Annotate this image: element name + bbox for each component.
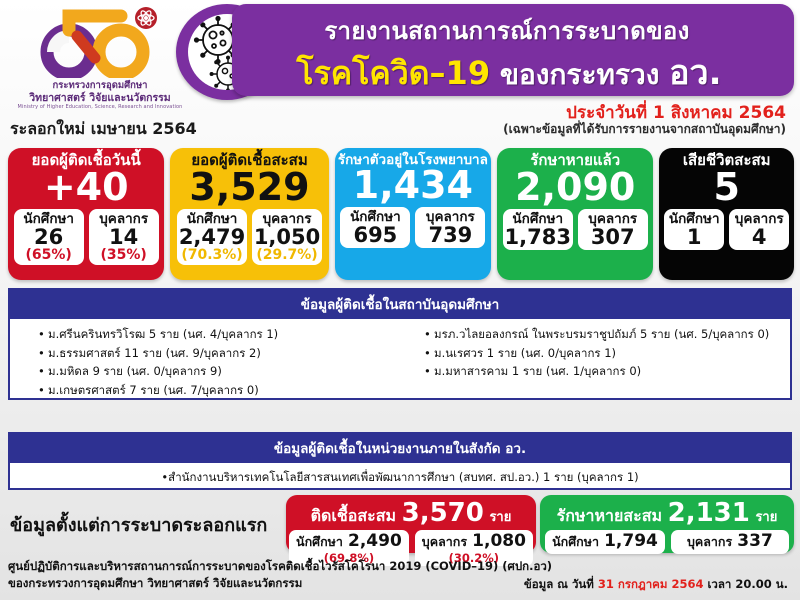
breakdown-value: 739 (415, 224, 485, 246)
breakdown-percent: (65%) (14, 248, 84, 263)
card-value: 1,434 (353, 166, 473, 204)
breakdown-students: นักศึกษา 1 (664, 209, 724, 250)
breakdown-value: 1,783 (503, 226, 573, 248)
logo-english-line: Ministry of Higher Education, Science, R… (14, 105, 186, 111)
title-covid-label: โรคโควิด–19 (296, 54, 490, 92)
summary-cumulative-cases: ติดเชื้อสะสม 3,570 ราย นักศึกษา 2,490 (6… (286, 495, 536, 553)
card-breakdown: นักศึกษา 695 บุคลากร 739 (340, 207, 485, 248)
title-ministry-abbr: อว. (669, 53, 721, 93)
list-item-text: ม.เกษตรศาสตร์ 7 ราย (นศ. 7/บุคลากร 0) (48, 383, 259, 397)
breakdown-value: 2,490 (348, 531, 402, 551)
stat-card-row: ยอดผู้ติดเชื้อวันนี้ +40 นักศึกษา 26 (65… (8, 148, 794, 280)
bullet-icon: • (38, 362, 48, 381)
summary-breakdown: นักศึกษา 1,794 บุคลากร 337 (540, 530, 794, 554)
list-item: •ม.ธรรมศาสตร์ 11 ราย (นศ. 9/บุคลากร 2) (38, 344, 400, 363)
bullet-icon: • (38, 344, 48, 363)
breakdown-value: 2,479 (177, 226, 247, 248)
panel-institutions-heading: ข้อมูลผู้ติดเชื้อในสถาบันอุดมศึกษา (10, 290, 790, 319)
bullet-icon: • (424, 344, 434, 363)
panel-agencies: ข้อมูลผู้ติดเชื้อในหน่วยงานภายในสังกัด อ… (8, 432, 792, 490)
panel-agencies-heading: ข้อมูลผู้ติดเชื้อในหน่วยงานภายในสังกัด อ… (10, 434, 790, 463)
breakdown-label: บุคลากร (687, 534, 732, 549)
asof-date: 31 กรกฎาคม 2564 (598, 577, 704, 591)
breakdown-value: 1,080 (472, 531, 526, 551)
breakdown-students: นักศึกษา 1,794 (545, 530, 665, 554)
title-of-ministry: ของกระทรวง (500, 58, 660, 91)
asof-prefix: ข้อมูล ณ วันที่ (524, 577, 594, 591)
list-item: •ม.ศรีนครินทรวิโรฒ 5 ราย (นศ. 4/บุคลากร … (38, 325, 400, 344)
breakdown-label: นักศึกษา (14, 212, 84, 226)
asof-time: เวลา 20.00 น. (707, 577, 788, 591)
logo-thai-line2: วิทยาศาสตร์ วิจัยและนวัตกรรม (14, 92, 186, 104)
summary-recovered-heading: รักษาหายสะสม 2,131 ราย (540, 495, 794, 529)
breakdown-staff: บุคลากร 739 (415, 207, 485, 248)
bullet-icon: • (38, 381, 48, 400)
breakdown-students: นักศึกษา 26 (65%) (14, 209, 84, 266)
breakdown-label: บุคลากร (578, 212, 648, 226)
breakdown-staff: บุคลากร 337 (671, 530, 789, 554)
list-item-text: มรภ.วไลยอลงกรณ์ ในพระบรมราชูปถัมภ์ 5 ราย… (434, 327, 769, 341)
footer-line-1: ศูนย์ปฏิบัติการและบริหารสถานการณ์การระบา… (8, 558, 792, 575)
breakdown-value: 14 (89, 226, 159, 248)
breakdown-label: นักศึกษา (503, 212, 573, 226)
summary-value: 2,131 (668, 498, 750, 528)
breakdown-value: 4 (729, 226, 789, 248)
stat-card-new-cases-today: ยอดผู้ติดเชื้อวันนี้ +40 นักศึกษา 26 (65… (8, 148, 164, 280)
list-item-text: ม.มหาสารคาม 1 ราย (นศ. 1/บุคลากร 0) (434, 364, 641, 378)
breakdown-staff: บุคลากร 1,050 (29.7%) (252, 209, 322, 266)
breakdown-label: บุคลากร (89, 212, 159, 226)
breakdown-label: นักศึกษา (552, 534, 599, 549)
list-item-text: ม.ธรรมศาสตร์ 11 ราย (นศ. 9/บุคลากร 2) (48, 346, 261, 360)
panel-institutions: ข้อมูลผู้ติดเชื้อในสถาบันอุดมศึกษา •ม.ศร… (8, 288, 792, 400)
header: กระทรวงการอุดมศึกษา วิทยาศาสตร์ วิจัยและ… (0, 0, 800, 140)
list-item: •ม.เกษตรศาสตร์ 7 ราย (นศ. 7/บุคลากร 0) (38, 381, 400, 400)
aw-monogram-icon (25, 6, 175, 78)
list-item: •สำนักงานบริหารเทคโนโลยีสารสนเทศเพื่อพัฒ… (10, 463, 790, 487)
summary-title: ติดเชื้อสะสม (311, 506, 396, 525)
breakdown-label: บุคลากร (422, 534, 467, 549)
breakdown-value: 1,050 (252, 226, 322, 248)
breakdown-label: บุคลากร (415, 210, 485, 224)
breakdown-value: 307 (578, 226, 648, 248)
breakdown-percent: (35%) (89, 248, 159, 263)
card-breakdown: นักศึกษา 26 (65%) บุคลากร 14 (35%) (14, 209, 159, 266)
summary-label: ข้อมูลตั้งแต่การระบาดระลอกแรก (10, 510, 267, 539)
summary-value: 3,570 (402, 498, 484, 528)
logo-thai-line1: กระทรวงการอุดมศึกษา (14, 81, 186, 92)
card-value: 3,529 (189, 168, 309, 206)
list-item: •มรภ.วไลยอลงกรณ์ ในพระบรมราชูปถัมภ์ 5 รา… (424, 325, 786, 344)
list-item: •ม.นเรศวร 1 ราย (นศ. 0/บุคลากร 1) (424, 344, 786, 363)
card-value: 2,090 (515, 168, 635, 206)
footer: ศูนย์ปฏิบัติการและบริหารสถานการณ์การระบา… (8, 558, 792, 591)
breakdown-label: นักศึกษา (177, 212, 247, 226)
breakdown-students: นักศึกษา 1,783 (503, 209, 573, 250)
card-breakdown: นักศึกษา 1 บุคลากร 4 (664, 209, 789, 250)
breakdown-staff: บุคลากร 14 (35%) (89, 209, 159, 266)
breakdown-value: 1,794 (604, 531, 658, 551)
stat-card-recovered: รักษาหายแล้ว 2,090 นักศึกษา 1,783 บุคลาก… (497, 148, 653, 280)
breakdown-label: บุคลากร (252, 212, 322, 226)
stat-card-deaths: เสียชีวิตสะสม 5 นักศึกษา 1 บุคลากร 4 (659, 148, 794, 280)
title-banner: รายงานสถานการณ์การระบาดของ โรคโควิด–19 ข… (232, 4, 794, 96)
summary-unit: ราย (755, 510, 777, 525)
title-line-2: โรคโควิด–19 ของกระทรวง อว. (232, 45, 786, 99)
list-item-text: ม.มหิดล 9 ราย (นศ. 0/บุคลากร 9) (48, 364, 222, 378)
panel-institutions-body: •ม.ศรีนครินทรวิโรฒ 5 ราย (นศ. 4/บุคลากร … (10, 319, 790, 405)
wave-label: ระลอกใหม่ เมษายน 2564 (10, 117, 197, 142)
breakdown-value: 26 (14, 226, 84, 248)
logo-mark (14, 6, 186, 80)
report-date-note: (เฉพาะข้อมูลที่ได้รับการรายงานจากสถาบันอ… (503, 120, 786, 139)
institutions-right-column: •มรภ.วไลยอลงกรณ์ ในพระบรมราชูปถัมภ์ 5 รา… (400, 325, 786, 400)
card-value: 5 (713, 168, 739, 206)
breakdown-label: นักศึกษา (664, 212, 724, 226)
summary-recovered: รักษาหายสะสม 2,131 ราย นักศึกษา 1,794 บุ… (540, 495, 794, 553)
infographic-page: กระทรวงการอุดมศึกษา วิทยาศาสตร์ วิจัยและ… (0, 0, 800, 600)
breakdown-students: นักศึกษา 2,479 (70.3%) (177, 209, 247, 266)
breakdown-students: นักศึกษา 695 (340, 207, 410, 248)
breakdown-label: บุคลากร (729, 212, 789, 226)
breakdown-staff: บุคลากร 4 (729, 209, 789, 250)
breakdown-value: 1 (664, 226, 724, 248)
breakdown-staff: บุคลากร 307 (578, 209, 648, 250)
card-value: +40 (44, 168, 129, 206)
ministry-logo: กระทรวงการอุดมศึกษา วิทยาศาสตร์ วิจัยและ… (14, 6, 186, 110)
card-breakdown: นักศึกษา 1,783 บุคลากร 307 (503, 209, 648, 250)
list-item-text: ม.ศรีนครินทรวิโรฒ 5 ราย (นศ. 4/บุคลากร 1… (48, 327, 278, 341)
bullet-icon: • (424, 325, 434, 344)
breakdown-label: นักศึกษา (296, 534, 343, 549)
institutions-left-column: •ม.ศรีนครินทรวิโรฒ 5 ราย (นศ. 4/บุคลากร … (14, 325, 400, 400)
breakdown-percent: (70.3%) (177, 248, 247, 263)
breakdown-label: นักศึกษา (340, 210, 410, 224)
summary-cumulative-heading: ติดเชื้อสะสม 3,570 ราย (286, 495, 536, 529)
breakdown-value: 695 (340, 224, 410, 246)
card-breakdown: นักศึกษา 2,479 (70.3%) บุคลากร 1,050 (29… (177, 209, 322, 266)
breakdown-percent: (29.7%) (252, 248, 322, 263)
bullet-icon: • (424, 362, 434, 381)
list-item: •ม.มหิดล 9 ราย (นศ. 0/บุคลากร 9) (38, 362, 400, 381)
list-item-text: ม.นเรศวร 1 ราย (นศ. 0/บุคลากร 1) (434, 346, 616, 360)
stat-card-in-hospital: รักษาตัวอยู่ในโรงพยาบาล 1,434 นักศึกษา 6… (335, 148, 491, 280)
summary-title: รักษาหายสะสม (557, 506, 662, 525)
footer-asof: ข้อมูล ณ วันที่ 31 กรกฎาคม 2564 เวลา 20.… (524, 576, 788, 594)
breakdown-value: 337 (737, 531, 773, 551)
bullet-icon: • (38, 325, 48, 344)
list-item-text: สำนักงานบริหารเทคโนโลยีสารสนเทศเพื่อพัฒน… (168, 470, 638, 484)
summary-bar: ข้อมูลตั้งแต่การระบาดระลอกแรก ติดเชื้อสะ… (0, 494, 800, 556)
stat-card-cumulative-cases: ยอดผู้ติดเชื้อสะสม 3,529 นักศึกษา 2,479 … (170, 148, 328, 280)
list-item: •ม.มหาสารคาม 1 ราย (นศ. 1/บุคลากร 0) (424, 362, 786, 381)
summary-unit: ราย (489, 510, 511, 525)
